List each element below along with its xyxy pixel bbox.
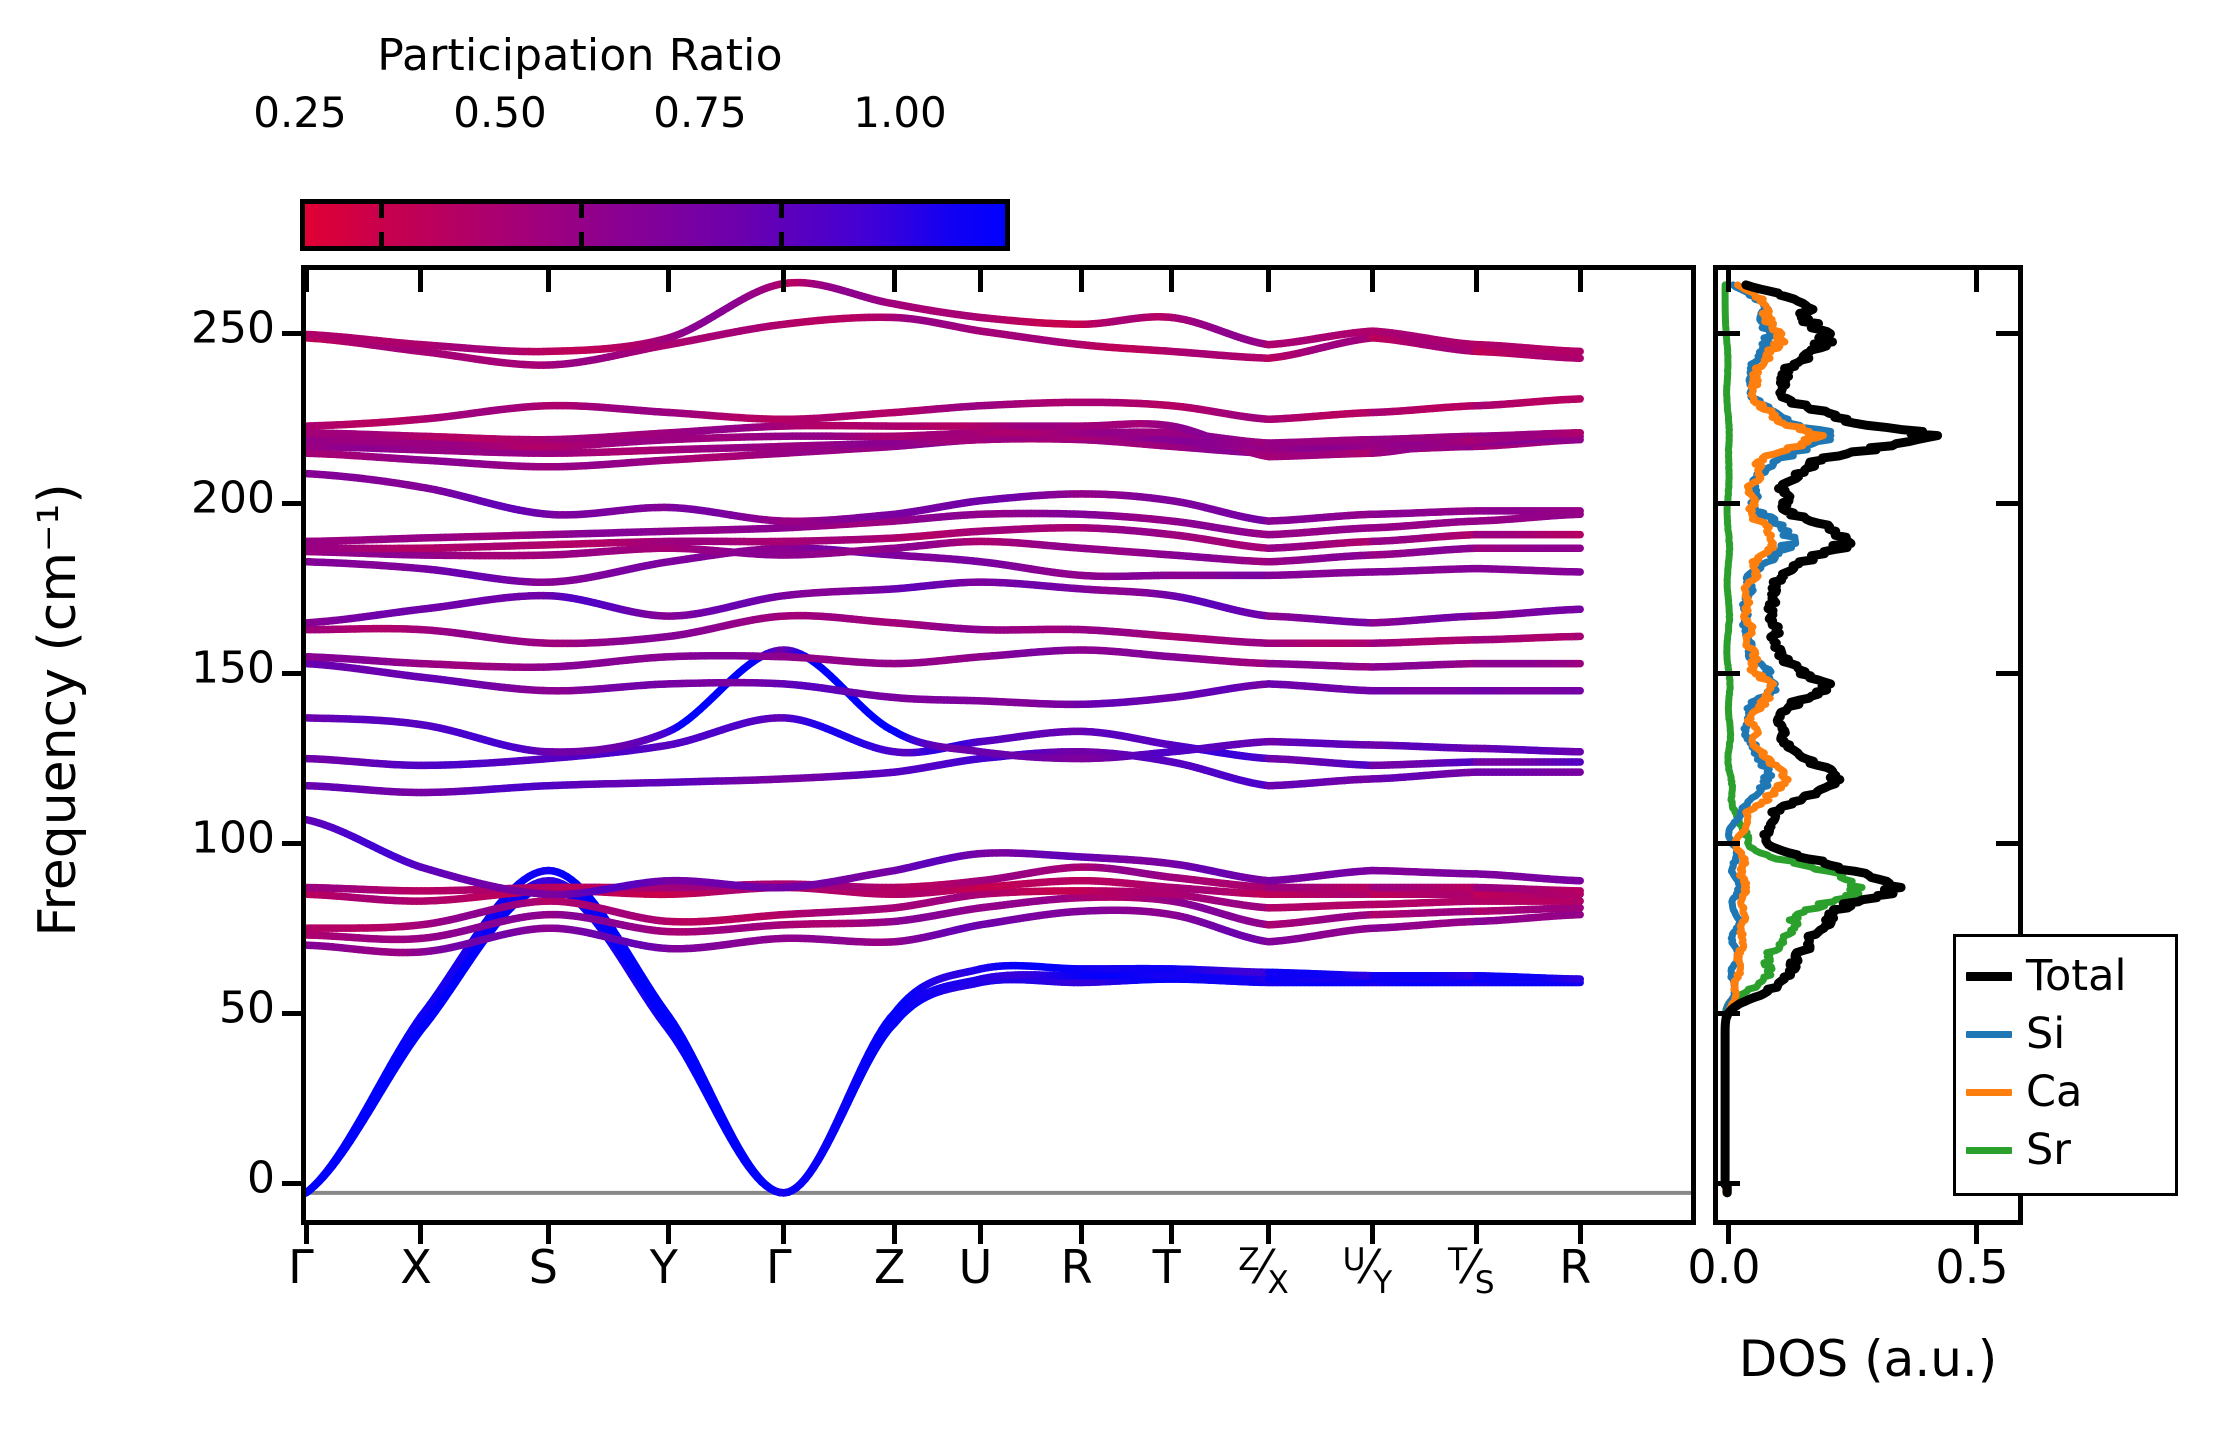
band-xtick-top [1266,270,1271,292]
colorbar-tick-label: 0.50 [453,88,547,137]
legend-label: Si [2026,1013,2065,1056]
band-ytick [282,671,306,676]
colorbar-title: Participation Ratio [300,32,860,80]
band-xtick-label: T⁄S [1448,1240,1495,1299]
legend-item-sr: Sr [1966,1121,2167,1179]
dos-xtick-label: 0.0 [1687,1240,1760,1294]
band-xtick-top [1578,270,1583,292]
dos-ytick [1718,671,1740,676]
band-y-axis-label: Frequency (cm⁻¹) [28,400,88,1020]
legend-swatch-total [1966,972,2012,981]
band-xtick-label: Z [874,1240,906,1294]
colorbar-tick-label: 1.00 [853,88,947,137]
dos-ytick [1718,841,1740,846]
dos-xtick-labels: 0.0 0.5 [1713,1240,2023,1300]
band-ytick-label: 50 [90,983,275,1034]
band-xtick-label: Γ [288,1240,314,1294]
band-xtick-label: U [959,1240,993,1294]
band-ytick-label: 150 [90,643,275,694]
colorbar-tick [779,204,784,218]
band-xtick-label: S [529,1240,558,1294]
band-xtick-label: Γ [766,1240,792,1294]
band-xtick-labels: ΓXSYΓZURTZ⁄XU⁄YT⁄SR [301,1240,1696,1310]
band-xtick-top [978,270,983,292]
band-xtick-top [546,270,551,292]
phonon-band-structure-axes [301,265,1696,1225]
band-ytick-label: 100 [90,813,275,864]
dos-curve-total [1725,285,1937,1193]
legend-swatch-sr [1966,1147,2012,1154]
band-ytick-labels: 0 50 100 150 200 250 [90,265,275,1225]
dos-curve-ca [1725,285,1823,1193]
legend-label: Ca [2026,1071,2082,1114]
dos-ytick [1718,1011,1740,1016]
band-xtick-top [304,270,309,292]
dos-ytick-right [1996,841,2018,846]
band-ytick [282,1011,306,1016]
band-xtick-label: T [1153,1240,1181,1294]
colorbar-tick-label: 0.75 [653,88,747,137]
legend-label: Sr [2026,1129,2071,1172]
band-ytick [282,841,306,846]
dos-ytick-right [1996,501,2018,506]
band-xtick-label: Z⁄X [1238,1240,1289,1299]
legend-item-total: Total [1966,947,2167,1005]
dos-ytick-right [1996,671,2018,676]
band-ytick-label: 200 [90,473,275,524]
colorbar-tick [779,232,784,246]
band-xtick-top [418,270,423,292]
band-ytick-label: 250 [90,303,275,354]
colorbar-tick [579,232,584,246]
legend-item-si: Si [1966,1005,2167,1063]
dos-legend: Total Si Ca Sr [1953,934,2178,1196]
band-xtick-top [1079,270,1084,292]
band-xtick-top [1474,270,1479,292]
colorbar-tick [579,204,584,218]
legend-item-ca: Ca [1966,1063,2167,1121]
band-xtick-top [666,270,671,292]
band-plot-area [306,270,1691,1220]
band-xtick-label: R [1559,1240,1591,1294]
band-xtick-label: R [1061,1240,1093,1294]
band-xtick-top [892,270,897,292]
colorbar-tick [379,232,384,246]
dos-ytick-right [1996,331,2018,336]
band-xtick-top [781,270,786,292]
band-xtick-label: U⁄Y [1343,1240,1393,1299]
band-xtick-label: X [400,1240,432,1294]
band-ytick [282,1181,306,1186]
band-ytick [282,331,306,336]
participation-ratio-colorbar [300,199,1010,251]
dos-xtick-top [1726,270,1731,292]
dos-x-axis-label: DOS (a.u.) [1663,1330,2073,1388]
band-curves [306,270,1691,1220]
band-xtick-top [1169,270,1174,292]
dos-ytick [1718,331,1740,336]
legend-label: Total [2026,955,2126,998]
phonon-figure: Participation Ratio 0.25 0.50 0.75 1.00 … [0,0,2222,1455]
colorbar-tick-label: 0.25 [253,88,347,137]
dos-ytick [1718,501,1740,506]
legend-swatch-si [1966,1031,2012,1038]
band-ytick [282,501,306,506]
colorbar-gradient [305,204,1005,246]
dos-ytick [1718,1181,1740,1186]
colorbar-tick [379,204,384,218]
band-xtick-label: Y [650,1240,678,1294]
colorbar-tick-labels: 0.25 0.50 0.75 1.00 [212,88,1032,134]
dos-xtick-label: 0.5 [1935,1240,2008,1294]
band-ytick-label: 0 [90,1153,275,1204]
band-xtick-top [1370,270,1375,292]
dos-xtick-top [1974,270,1979,292]
legend-swatch-ca [1966,1089,2012,1096]
